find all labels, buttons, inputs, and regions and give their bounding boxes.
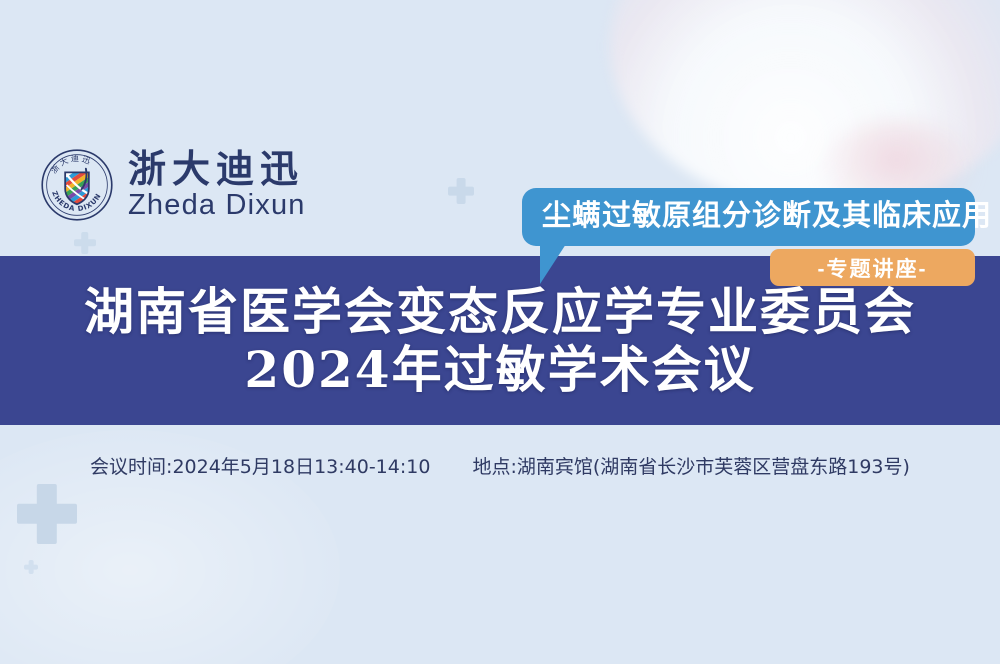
bubble-body: 尘螨过敏原组分诊断及其临床应用 bbox=[522, 188, 975, 246]
session-type-label: -专题讲座- bbox=[818, 253, 928, 283]
plus-cross-icon bbox=[448, 178, 474, 204]
brand-name-en: Zheda Dixun bbox=[128, 191, 306, 220]
glow-arc-decoration bbox=[610, 0, 1000, 210]
session-type-tag: -专题讲座- bbox=[770, 249, 975, 286]
conference-venue: 地点:湖南宾馆(湖南省长沙市芙蓉区营盘东路193号) bbox=[472, 452, 910, 479]
conference-poster: 浙大迪迅 ZHEDA DIXUN bbox=[0, 0, 1000, 664]
conference-title-line-1: 湖南省医学会变态反应学专业委员会 bbox=[84, 285, 916, 339]
plus-cross-icon bbox=[17, 484, 77, 544]
zheda-dixun-emblem-icon: 浙大迪迅 ZHEDA DIXUN bbox=[40, 148, 114, 222]
plus-cross-icon bbox=[74, 232, 96, 254]
plus-cross-icon bbox=[24, 560, 38, 574]
bubble-tail-icon bbox=[540, 244, 566, 284]
lecture-topic-title: 尘螨过敏原组分诊断及其临床应用 bbox=[542, 200, 955, 233]
conference-time: 会议时间:2024年5月18日13:40-14:10 bbox=[90, 452, 430, 479]
lecture-topic-bubble: 尘螨过敏原组分诊断及其临床应用 bbox=[522, 188, 975, 246]
conference-info-row: 会议时间:2024年5月18日13:40-14:10 地点:湖南宾馆(湖南省长沙… bbox=[0, 452, 1000, 479]
conference-title-line-2: 2024年过敏学术会议 bbox=[244, 343, 755, 397]
brand-logo: 浙大迪迅 ZHEDA DIXUN bbox=[40, 148, 306, 222]
brand-name-cn: 浙大迪迅 bbox=[128, 150, 306, 188]
